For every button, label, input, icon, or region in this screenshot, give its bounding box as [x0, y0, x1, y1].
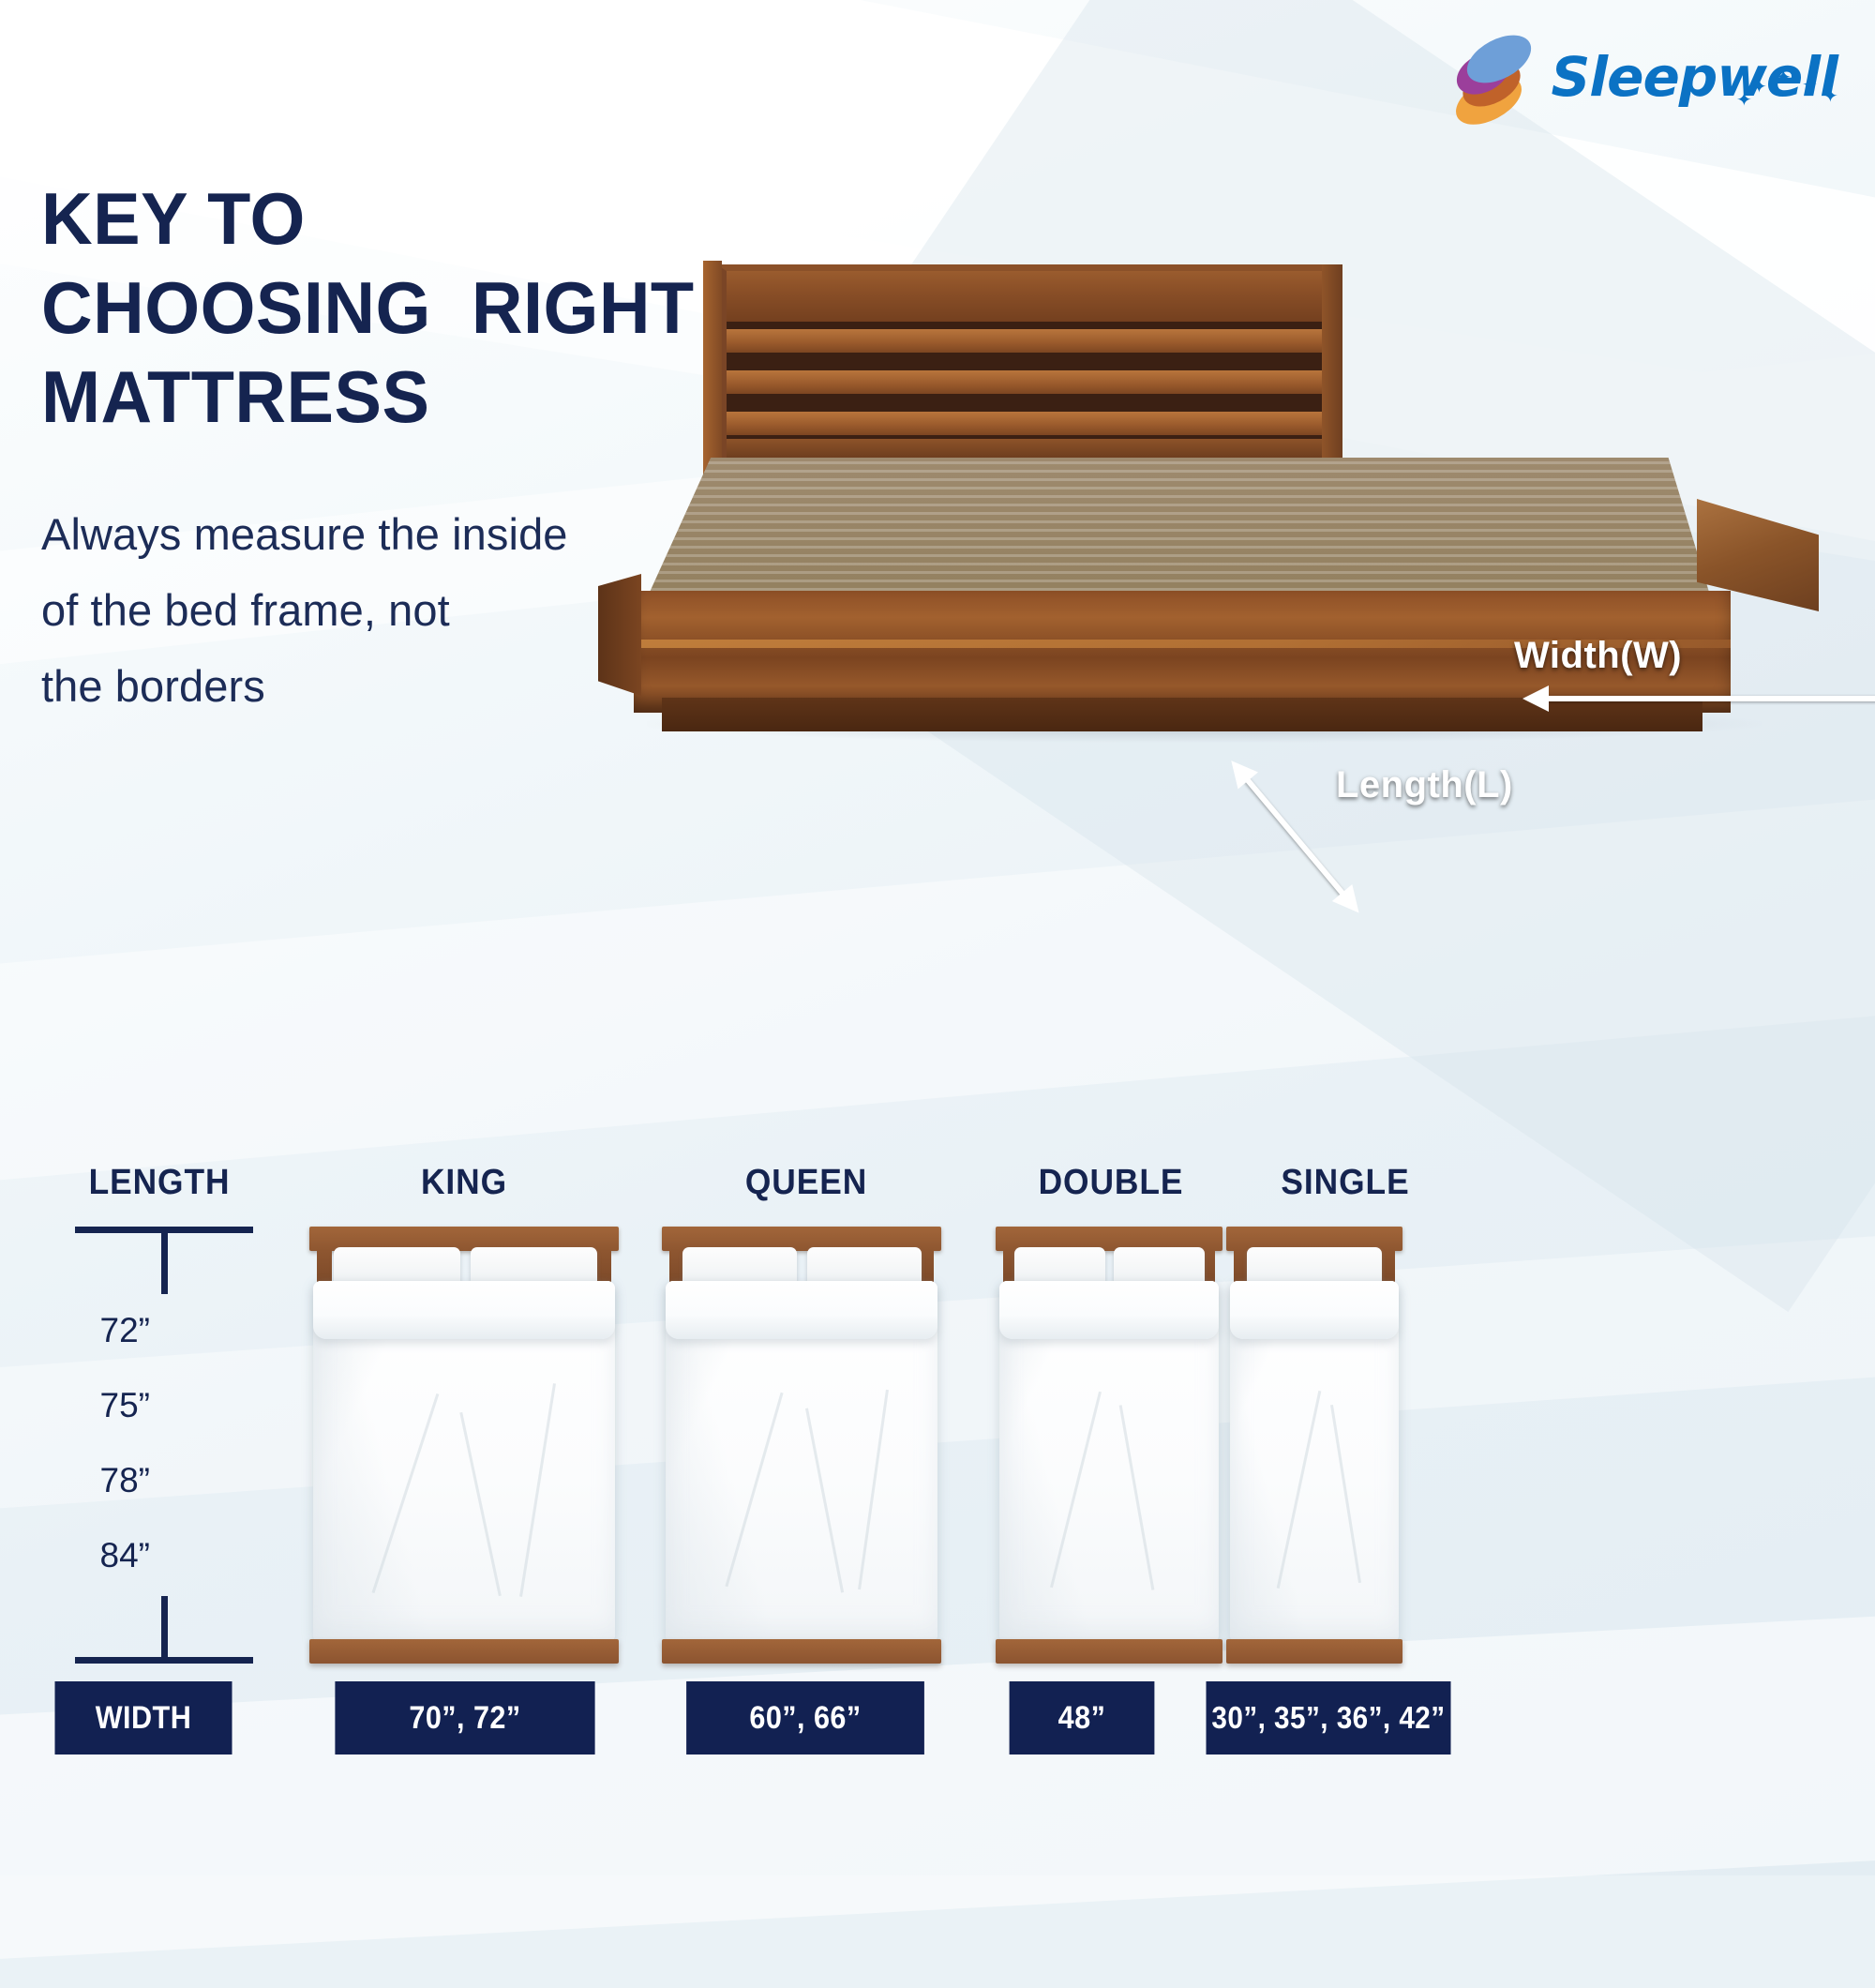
page-title: KEY TO CHOOSING RIGHT MATTRESS — [41, 174, 695, 442]
sleepwell-swirl-icon — [1453, 34, 1526, 120]
column-header-queen: QUEEN — [680, 1163, 933, 1203]
length-value-2: 78” — [37, 1461, 150, 1500]
bed-slat-base — [647, 458, 1711, 598]
column-header-king: KING — [329, 1163, 599, 1203]
length-dimension-label: Length(L) — [1336, 764, 1513, 806]
bed-footboard-rail — [662, 1639, 941, 1664]
headline-line-1: KEY TO — [41, 174, 695, 264]
size-comparison-table: LENGTH 72” 75” 78” 84” WIDTH KING 70”, 7… — [0, 1153, 1875, 1866]
width-dimension-arrow — [1547, 696, 1875, 701]
duvet — [666, 1281, 937, 1641]
length-bracket-top — [75, 1227, 253, 1294]
bed-headboard — [716, 264, 1335, 459]
bed-illustration-queen — [662, 1227, 941, 1664]
width-dimension-label: Width(W) — [1514, 635, 1682, 677]
bed-illustration-king — [309, 1227, 619, 1664]
headboard-left-post — [703, 261, 722, 486]
headline-line-2: CHOOSING RIGHT — [41, 264, 695, 353]
bed-footboard-rail — [1226, 1639, 1402, 1664]
bed-left-panel — [598, 574, 641, 696]
bed-footboard-rail — [309, 1639, 619, 1664]
duvet-fold — [666, 1281, 937, 1339]
subtitle-line-3: the borders — [41, 649, 568, 725]
row-header-length: LENGTH — [46, 1163, 273, 1203]
brand-logo: ✦ ✦ ✦ ✦ ✦ Sleepwell — [1453, 34, 1837, 120]
headboard-right-post — [1322, 264, 1342, 486]
subtitle-line-2: of the bed frame, not — [41, 573, 568, 649]
duvet — [999, 1281, 1219, 1641]
length-value-1: 75” — [37, 1386, 150, 1425]
length-value-0: 72” — [37, 1311, 150, 1350]
subtitle-line-1: Always measure the inside — [41, 497, 568, 573]
duvet-fold — [313, 1281, 615, 1339]
bed-illustration-single — [1226, 1227, 1402, 1664]
width-value-double: 48” — [1010, 1681, 1155, 1755]
bed-frame-illustration: Width(W) Length(L) — [591, 264, 1837, 771]
subtitle-text: Always measure the inside of the bed fra… — [41, 497, 568, 724]
length-bracket-bottom — [75, 1596, 253, 1664]
column-header-single: SINGLE — [1227, 1163, 1462, 1203]
width-value-queen: 60”, 66” — [686, 1681, 924, 1755]
duvet-fold — [1230, 1281, 1399, 1339]
bed-footboard-rail — [996, 1639, 1222, 1664]
row-header-width: WIDTH — [55, 1681, 232, 1755]
bed-illustration-double — [996, 1227, 1222, 1664]
duvet — [313, 1281, 615, 1641]
width-value-king: 70”, 72” — [335, 1681, 594, 1755]
headline-line-3: MATTRESS — [41, 353, 695, 442]
brand-name: Sleepwell — [1551, 50, 1837, 104]
duvet — [1230, 1281, 1399, 1641]
width-value-single: 30”, 35”, 36”, 42” — [1207, 1681, 1451, 1755]
length-value-3: 84” — [37, 1536, 150, 1575]
column-header-double: DOUBLE — [997, 1163, 1224, 1203]
duvet-fold — [999, 1281, 1219, 1339]
